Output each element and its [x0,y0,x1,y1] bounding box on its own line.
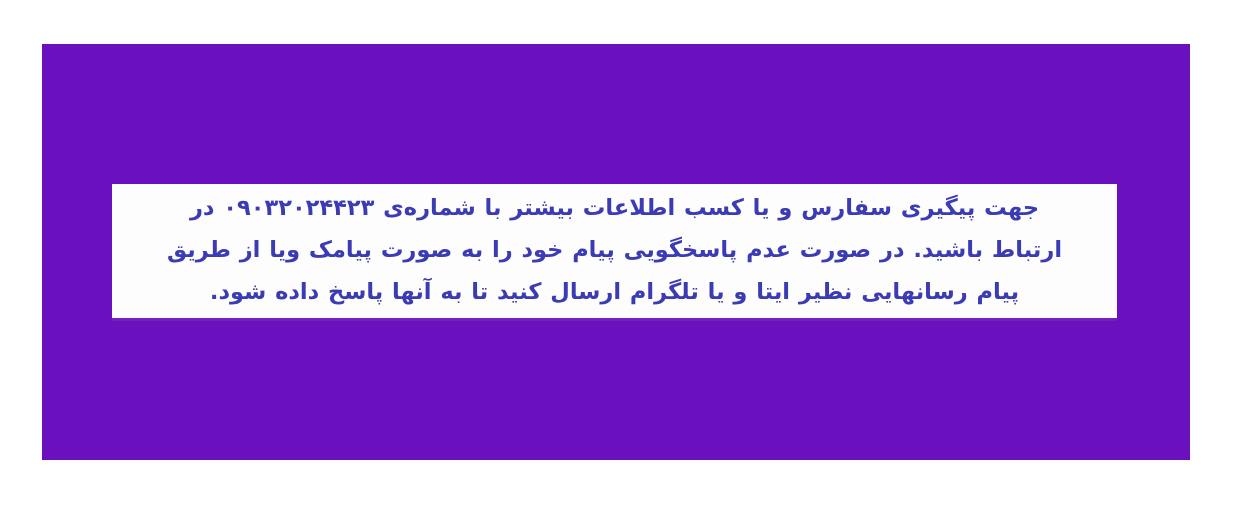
purple-background-panel: جهت پیگیری سفارس و یا کسب اطلاعات بیشتر … [42,44,1190,460]
contact-message: جهت پیگیری سفارس و یا کسب اطلاعات بیشتر … [167,187,1062,313]
message-line-1: جهت پیگیری سفارس و یا کسب اطلاعات بیشتر … [167,187,1062,229]
message-line-2: ارتباط باشید. در صورت عدم پاسخگویی پیام … [167,229,1062,271]
message-card: جهت پیگیری سفارس و یا کسب اطلاعات بیشتر … [112,184,1117,318]
banner-root: جهت پیگیری سفارس و یا کسب اطلاعات بیشتر … [0,0,1233,507]
message-line-3: پیام رسانهایی نظیر ایتا و یا تلگرام ارسا… [167,271,1062,313]
